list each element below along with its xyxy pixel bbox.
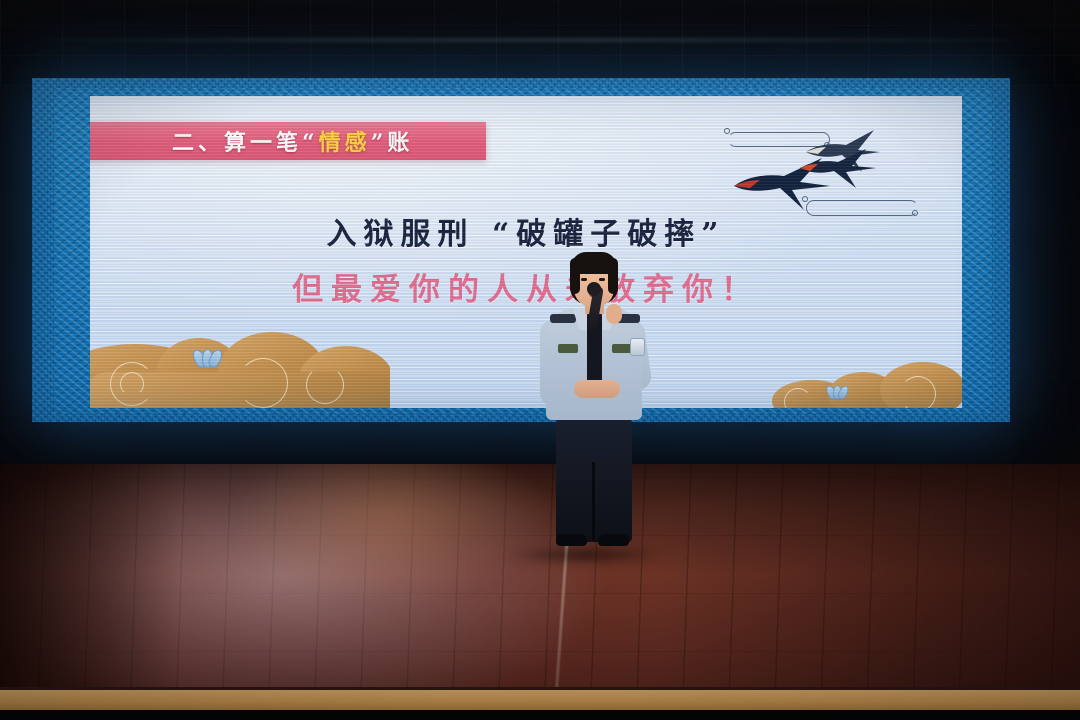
floor-left-shadow xyxy=(0,464,180,710)
lotus-icon-right xyxy=(827,385,847,400)
speaker-epaulette-left xyxy=(550,314,576,323)
auditorium-ceiling xyxy=(0,0,1080,86)
speaker-eye-right xyxy=(599,278,605,281)
speaker-badge-left xyxy=(558,344,578,353)
floor-right-shadow xyxy=(660,464,1080,710)
presentation-screen: 二、算一笔“情感”账 入狱服刑 “破罐子破摔” 但最爱你的人从未放弃你！ xyxy=(32,78,1010,422)
slide-body-line-1: 入狱服刑 “破罐子破摔” xyxy=(90,209,962,253)
speaker-hands xyxy=(574,380,620,398)
slide-content-panel: 二、算一笔“情感”账 入狱服刑 “破罐子破摔” 但最爱你的人从未放弃你！ xyxy=(90,96,962,408)
microphone-head-icon xyxy=(587,282,601,296)
title-suffix: 账 xyxy=(387,130,413,156)
speaker-shoe-right xyxy=(598,534,629,546)
title-highlight: 情感 xyxy=(319,130,371,156)
speaker-hand-holding-mic xyxy=(606,304,622,324)
stage-front-strip xyxy=(0,690,1080,710)
lotus-icon xyxy=(194,348,220,368)
swallow-birds-decoration xyxy=(722,104,922,222)
title-prefix: 二、算一笔 xyxy=(172,130,302,156)
title-quote-open: “ xyxy=(302,130,319,156)
speaker-badge-right xyxy=(612,344,632,353)
slide-title-banner: 二、算一笔“情感”账 xyxy=(90,122,486,160)
speaker-shoulder-patch xyxy=(630,338,645,356)
speaker-hair-front xyxy=(571,252,617,274)
speaker-eye-left xyxy=(581,278,587,281)
speaker-figure xyxy=(534,252,654,550)
cloud-decoration-right xyxy=(762,354,962,408)
cloud-decoration-left xyxy=(90,322,390,408)
slide-body-line-2: 但最爱你的人从未放弃你！ xyxy=(90,264,962,309)
slide-title-text: 二、算一笔“情感”账 xyxy=(172,125,413,157)
swallow-icon-3 xyxy=(794,146,880,192)
ceiling-light-sheen xyxy=(0,38,1080,42)
speaker-shoe-left xyxy=(556,534,587,546)
ceiling-grid-texture xyxy=(0,0,1080,86)
speaker-leg-gap xyxy=(592,462,595,540)
stage-scene: 二、算一笔“情感”账 入狱服刑 “破罐子破摔” 但最爱你的人从未放弃你！ xyxy=(0,0,1080,720)
title-quote-close: ” xyxy=(371,130,388,156)
